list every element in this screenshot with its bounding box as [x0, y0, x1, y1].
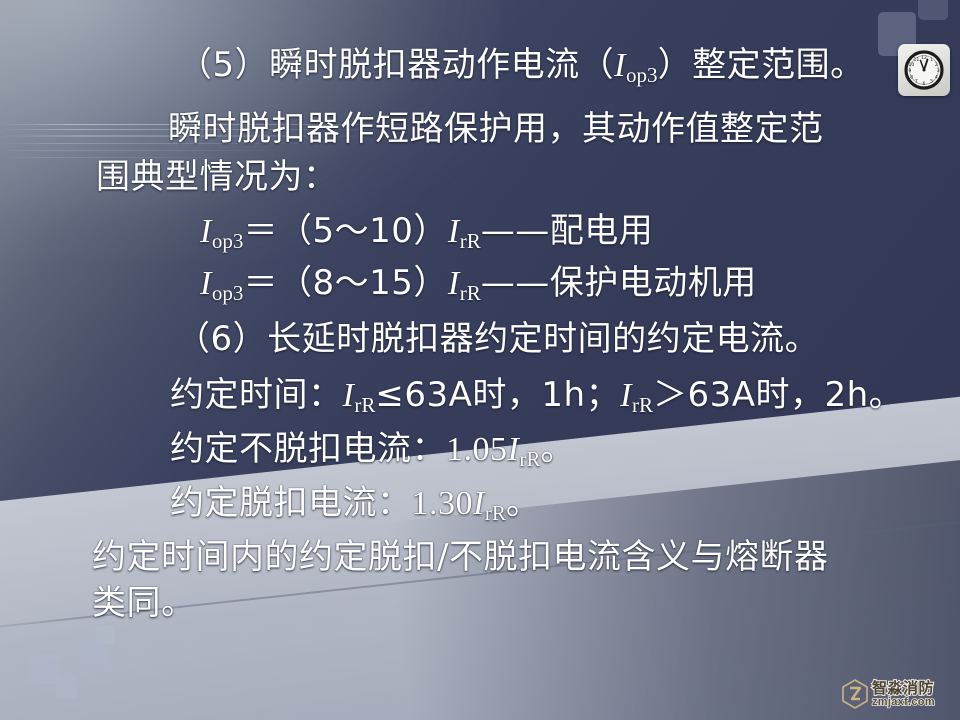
- text-line-6: （6）长延时脱扣器约定时间的约定电流。: [176, 322, 819, 356]
- text-line-11: 类同。: [92, 586, 196, 620]
- line1-suffix: ）整定范围。: [658, 45, 865, 85]
- line1-subscript: op3: [626, 63, 658, 87]
- watermark-text: 智淼消防 zmjaxf.com: [872, 681, 935, 708]
- line7-variable-2: I: [620, 377, 632, 414]
- line7-prefix: 约定时间：: [170, 375, 343, 415]
- line9-subscript: rR: [485, 501, 506, 525]
- watermark-title: 智淼消防: [872, 681, 935, 696]
- line8-suffix: 。: [540, 429, 575, 469]
- formula-line-2: Iop3＝（8～15）IrR——保护电动机用: [200, 266, 757, 301]
- formula-line-1: Iop3＝（5～10）IrR——配电用: [200, 214, 653, 249]
- line7-mid-1: ≤63A时，1h；: [375, 375, 620, 415]
- formula2-tail: ——保护电动机用: [481, 263, 757, 303]
- shield-logo-icon: [842, 679, 868, 709]
- line8-number: 1.05: [446, 431, 508, 468]
- slide-canvas: 12 1 2 3 4 5 6 7 8 9 10 11 （5）瞬时脱扣器动作电流（…: [0, 0, 960, 720]
- line1-variable: I: [614, 47, 626, 84]
- formula1-subscript-1: op3: [212, 229, 244, 253]
- line9-prefix: 约定脱扣电流：: [170, 483, 412, 523]
- text-line-2: 瞬时脱扣器作短路保护用，其动作值整定范: [168, 112, 824, 146]
- line9-suffix: 。: [506, 483, 541, 523]
- line7-mid-2: ＞63A时，2h。: [653, 375, 903, 415]
- line8-variable: I: [508, 431, 520, 468]
- formula2-expression: ＝（8～15）: [243, 263, 447, 303]
- text-line-1: （5）瞬时脱扣器动作电流（Iop3）整定范围。: [178, 48, 865, 83]
- text-line-9: 约定脱扣电流：1.30IrR。: [170, 486, 540, 521]
- text-line-10: 约定时间内的约定脱扣/不脱扣电流含义与熔断器: [92, 540, 828, 574]
- formula2-subscript-2: rR: [460, 281, 481, 305]
- watermark: 智淼消防 zmjaxf.com: [842, 676, 954, 712]
- watermark-url: zmjaxf.com: [872, 697, 935, 708]
- line8-prefix: 约定不脱扣电流：: [170, 429, 446, 469]
- formula1-expression: ＝（5～10）: [243, 211, 447, 251]
- formula2-variable-2: I: [448, 265, 460, 302]
- formula2-subscript-1: op3: [212, 281, 244, 305]
- line8-subscript: rR: [519, 447, 540, 471]
- text-line-8: 约定不脱扣电流：1.05IrR。: [170, 432, 575, 467]
- formula1-tail: ——配电用: [481, 211, 654, 251]
- formula2-variable-1: I: [200, 265, 212, 302]
- formula1-subscript-2: rR: [460, 229, 481, 253]
- formula1-variable-1: I: [200, 213, 212, 250]
- line7-subscript-1: rR: [354, 393, 375, 417]
- line1-prefix: （5）瞬时脱扣器动作电流（: [178, 45, 614, 85]
- formula1-variable-2: I: [448, 213, 460, 250]
- line7-variable-1: I: [343, 377, 355, 414]
- text-line-3: 围典型情况为：: [96, 160, 338, 194]
- line9-number: 1.30: [412, 485, 474, 522]
- slide-text-content: （5）瞬时脱扣器动作电流（Iop3）整定范围。 瞬时脱扣器作短路保护用，其动作值…: [0, 0, 960, 720]
- text-line-7: 约定时间：IrR≤63A时，1h；IrR＞63A时，2h。: [170, 378, 903, 413]
- line7-subscript-2: rR: [632, 393, 653, 417]
- line9-variable: I: [473, 485, 485, 522]
